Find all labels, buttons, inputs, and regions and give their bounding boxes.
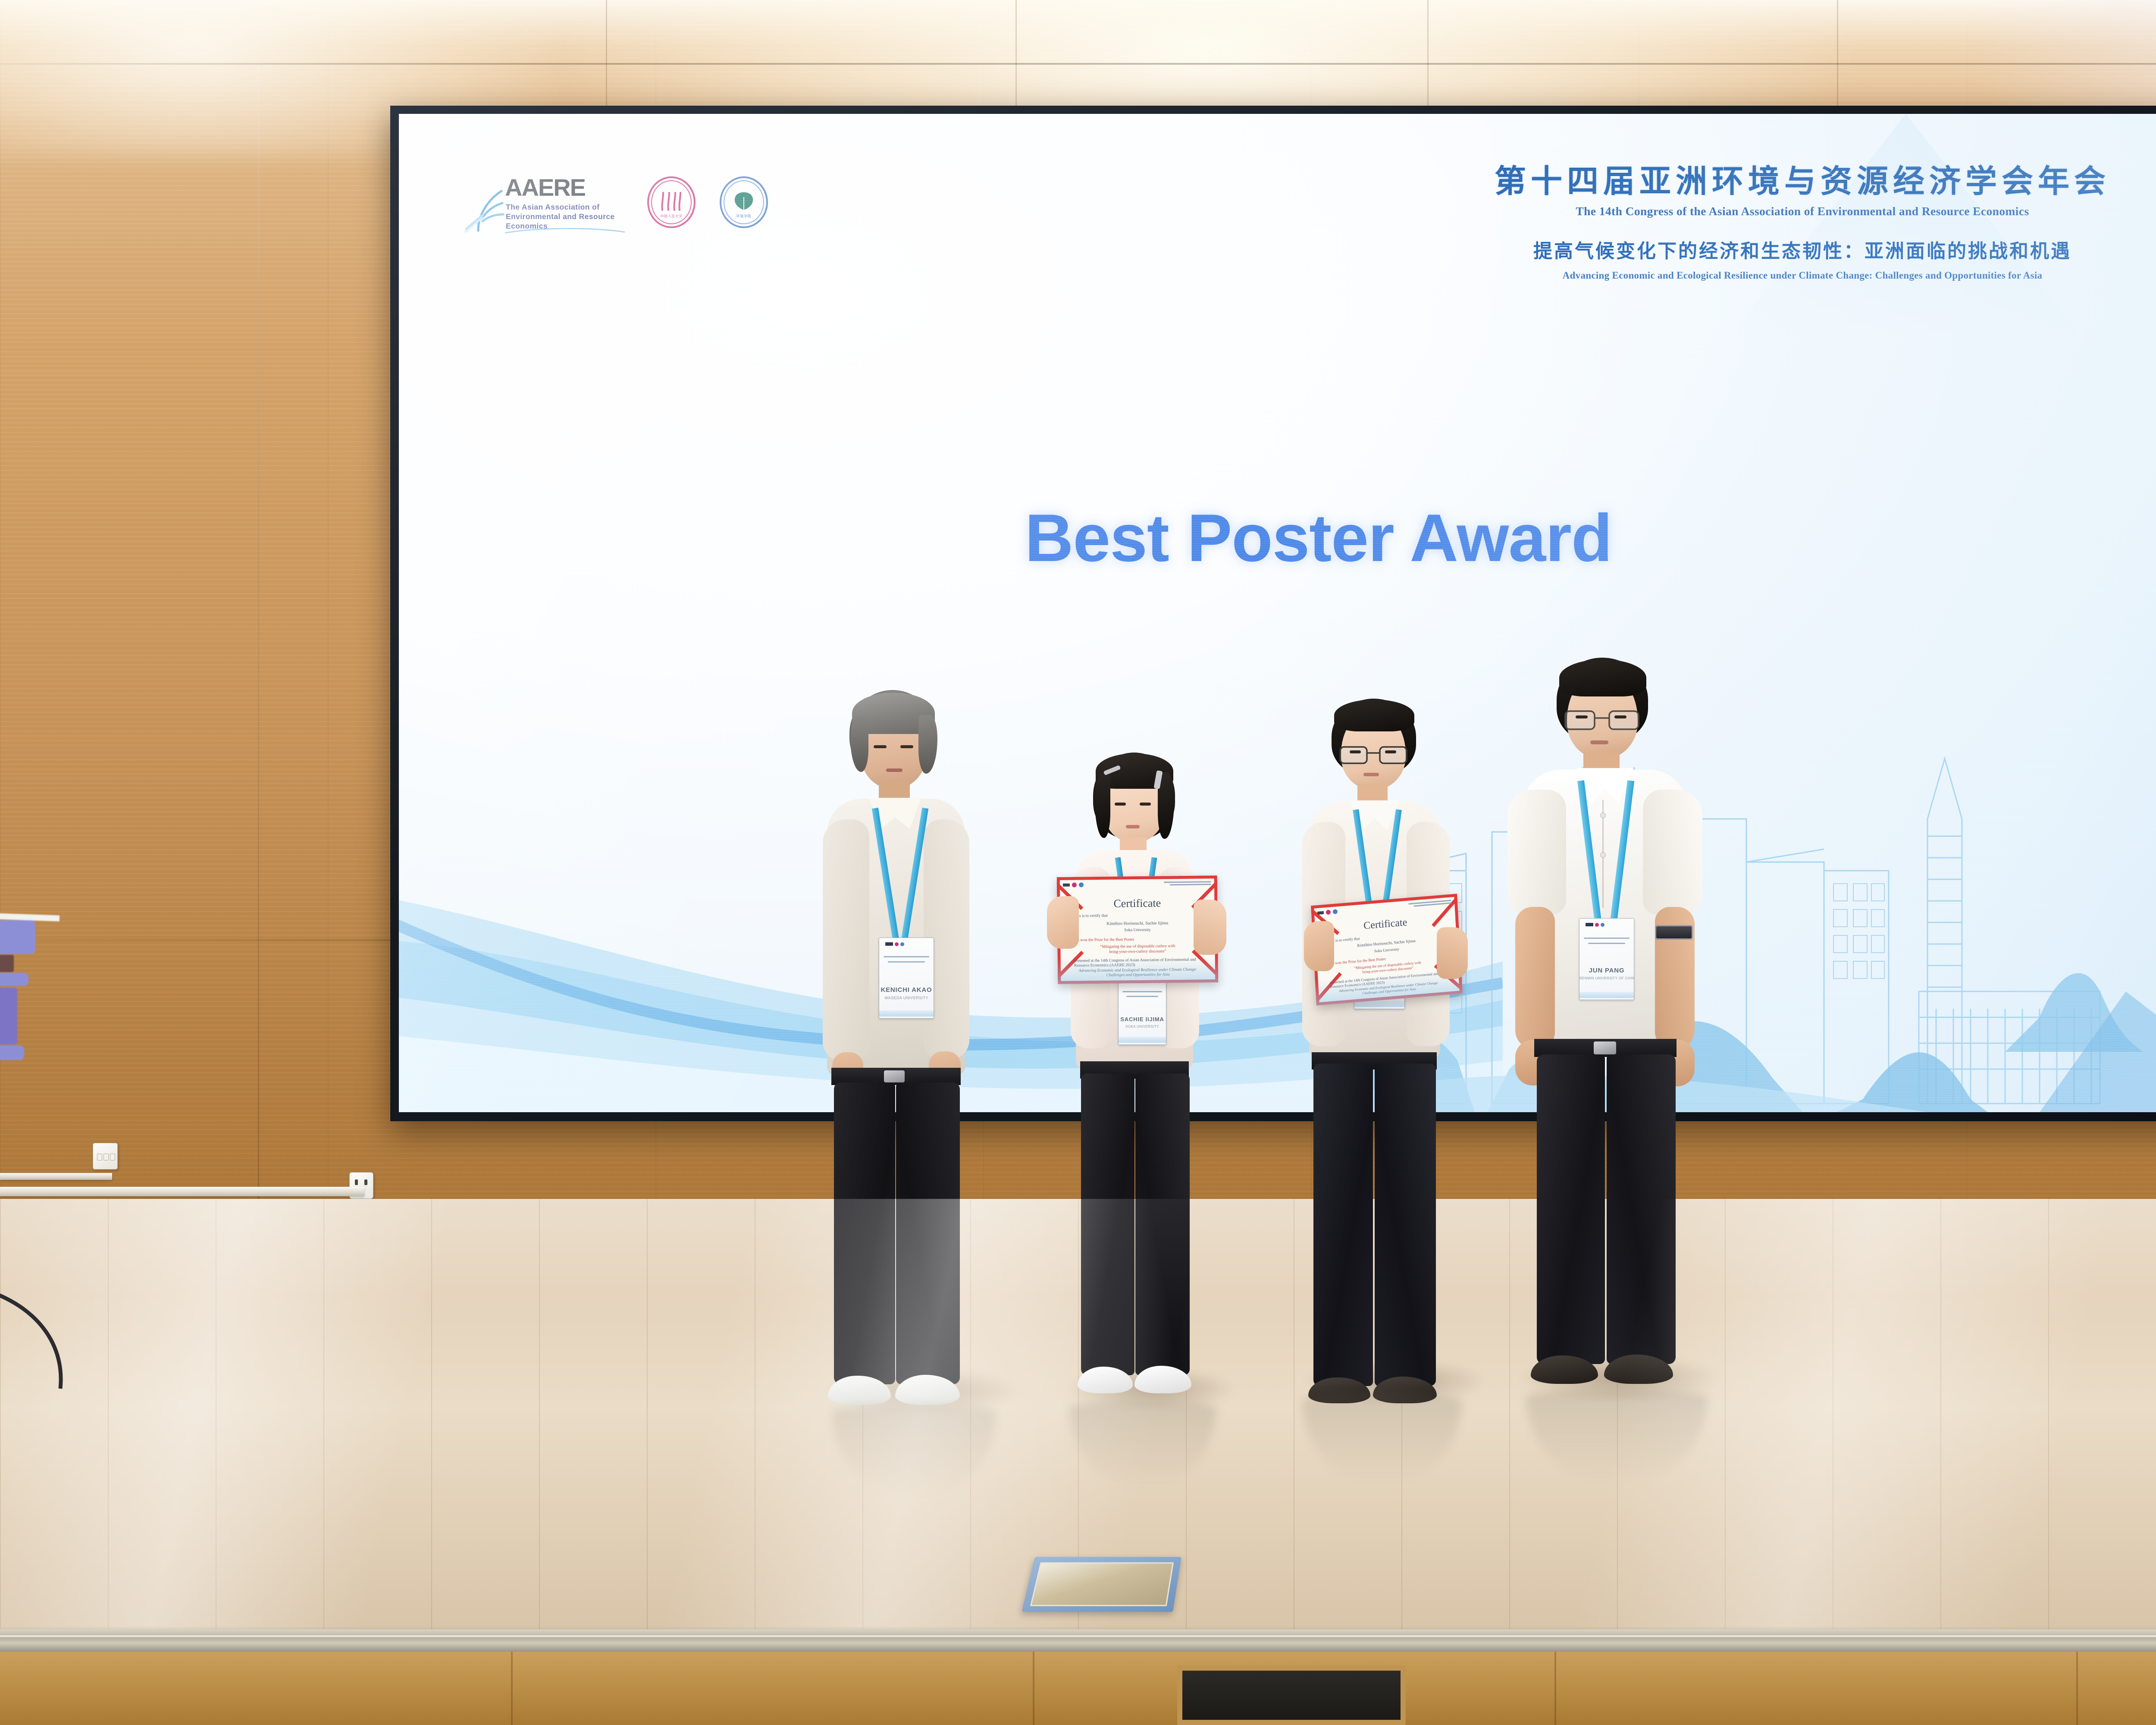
- slide-logo-row: AAERE The Asian Association of Environme…: [464, 172, 768, 232]
- eye-right: [1614, 715, 1626, 718]
- name-badge: JUN PANG RENMIN UNIVERSITY OF CHINA: [1579, 918, 1634, 1000]
- renmin-people-glyph-icon: [659, 191, 684, 212]
- hair-side-left: [1095, 773, 1110, 838]
- eye-left: [874, 745, 887, 748]
- shirt-button: [1601, 853, 1605, 857]
- hand-left: [1304, 921, 1334, 971]
- awardee-sachie-iijima: SACHIE IIJIMA SOKA UNIVERSITY: [1059, 753, 1231, 1399]
- badge-org: WASEDA UNIVERSITY: [879, 996, 934, 1000]
- slide-conference-header: 第十四届亚洲环境与资源经济学会年会 The 14th Congress of t…: [1432, 165, 2156, 281]
- certificate-logo-row: [1063, 882, 1084, 888]
- stage-edge-lip: [0, 1629, 2156, 1652]
- wall-panel-joint: [258, 63, 259, 1199]
- presenter-kenichi-akao: KENICHI AKAO WASEDA UNIVERSITY: [780, 690, 1005, 1406]
- sleeve-right: [1643, 790, 1702, 915]
- mouth: [886, 768, 903, 772]
- renmin-university-seal: 中国人民大学: [647, 176, 696, 228]
- hand-left: [1047, 896, 1079, 949]
- aaere-logo: AAERE The Asian Association of Environme…: [464, 172, 623, 232]
- eye-left: [1576, 715, 1588, 718]
- presenter-jun-pang: JUN PANG RENMIN UNIVERSITY OF CHINA: [1501, 658, 1733, 1391]
- wall-horizontal-seam: [0, 63, 2156, 65]
- shirt-button: [1601, 813, 1605, 818]
- cable-trunking: [0, 1173, 112, 1180]
- hair-side-right: [918, 715, 937, 774]
- eye-left: [1115, 803, 1126, 806]
- trouser-leg-right: [1135, 1073, 1190, 1375]
- stage-equipment-cart: [0, 913, 60, 1116]
- trouser-leg-right: [896, 1082, 960, 1384]
- certificate-prize-line: has won the Prize for the Best Poster: [1074, 938, 1134, 943]
- stage-front-vent-grille: [1177, 1665, 1406, 1725]
- badge-name: KENICHI AKAO: [879, 986, 934, 994]
- trouser-leg-left: [1081, 1073, 1134, 1375]
- floor-cable: [0, 1285, 181, 1397]
- aaere-underline-swoosh: [505, 228, 626, 235]
- eye-right: [1385, 750, 1396, 753]
- light-switch-plate[interactable]: [93, 1143, 118, 1170]
- belt-buckle: [884, 1070, 905, 1082]
- trouser-leg-left: [834, 1082, 895, 1384]
- wristwatch: [1655, 925, 1693, 940]
- decorative-cityscape-graphic: [1367, 690, 2156, 1112]
- conference-title-en: The 14th Congress of the Asian Associati…: [1432, 204, 2156, 218]
- environment-school-seal: 环境学院: [720, 176, 768, 228]
- arm-left: [823, 819, 869, 1061]
- trouser-leg-left: [1313, 1063, 1373, 1386]
- hand-right: [1194, 900, 1226, 955]
- forearm-left: [1515, 907, 1555, 1049]
- hair-fringe: [1334, 699, 1414, 731]
- award-ceremony-photo: AAERE The Asian Association of Environme…: [0, 0, 2156, 1725]
- name-badge: KENICHI AKAO WASEDA UNIVERSITY: [879, 938, 934, 1019]
- badge-name: SACHIE IIJIMA: [1119, 1016, 1166, 1022]
- aaere-wordmark: AAERE: [505, 176, 585, 200]
- badge-name: JUN PANG: [1579, 967, 1634, 974]
- trouser-leg-right: [1607, 1054, 1676, 1364]
- eye-right: [900, 745, 913, 748]
- sleeve-left: [1507, 790, 1566, 915]
- belt-buckle: [1594, 1041, 1616, 1054]
- cable-trunking: [0, 1187, 364, 1196]
- mouth: [1590, 740, 1608, 744]
- seal-subtext: 中国人民大学: [647, 214, 696, 219]
- aaere-tagline: The Asian Association of Environmental a…: [506, 202, 624, 231]
- awardee-kimihiro-horinouchi: KIMIHIRO HORINOUCHI SOKA UNIVERSITY: [1285, 699, 1483, 1397]
- ginkgo-leaf-icon: [732, 192, 756, 211]
- badge-org: RENMIN UNIVERSITY OF CHINA: [1579, 976, 1634, 980]
- led-screen: AAERE The Asian Association of Environme…: [399, 114, 2156, 1112]
- eyeglasses-icon: [1564, 708, 1640, 732]
- hair-fringe: [1559, 659, 1646, 696]
- seal-subtext: 环境学院: [720, 214, 768, 219]
- name-badge: SACHIE IIJIMA SOKA UNIVERSITY: [1118, 974, 1166, 1045]
- trouser-leg-left: [1537, 1054, 1605, 1364]
- conference-theme-en: Advancing Economic and Ecological Resili…: [1432, 270, 2156, 281]
- certificate-header-marks: [1164, 881, 1211, 887]
- aaere-leaf-icon: [464, 184, 505, 232]
- mouth: [1126, 825, 1140, 828]
- led-screen-bezel: AAERE The Asian Association of Environme…: [390, 106, 2156, 1121]
- hand-right: [1437, 927, 1468, 979]
- badge-org: SOKA UNIVERSITY: [1119, 1025, 1166, 1029]
- conference-theme-cn: 提高气候变化下的经济和生态韧性：亚洲面临的挑战和机遇: [1432, 235, 2156, 263]
- eye-left: [1350, 750, 1361, 753]
- slide-title: Best Poster Award: [399, 500, 2156, 577]
- trouser-leg-right: [1375, 1063, 1436, 1386]
- eyeglasses-icon: [1338, 743, 1408, 766]
- stage-front-panel: [0, 1652, 2156, 1725]
- mouth: [1363, 773, 1379, 776]
- hair-side-left: [850, 716, 868, 772]
- conference-title-cn: 第十四届亚洲环境与资源经济学会年会: [1432, 165, 2156, 199]
- eye-right: [1140, 803, 1151, 806]
- stage-floor-cable-box[interactable]: [1022, 1557, 1181, 1612]
